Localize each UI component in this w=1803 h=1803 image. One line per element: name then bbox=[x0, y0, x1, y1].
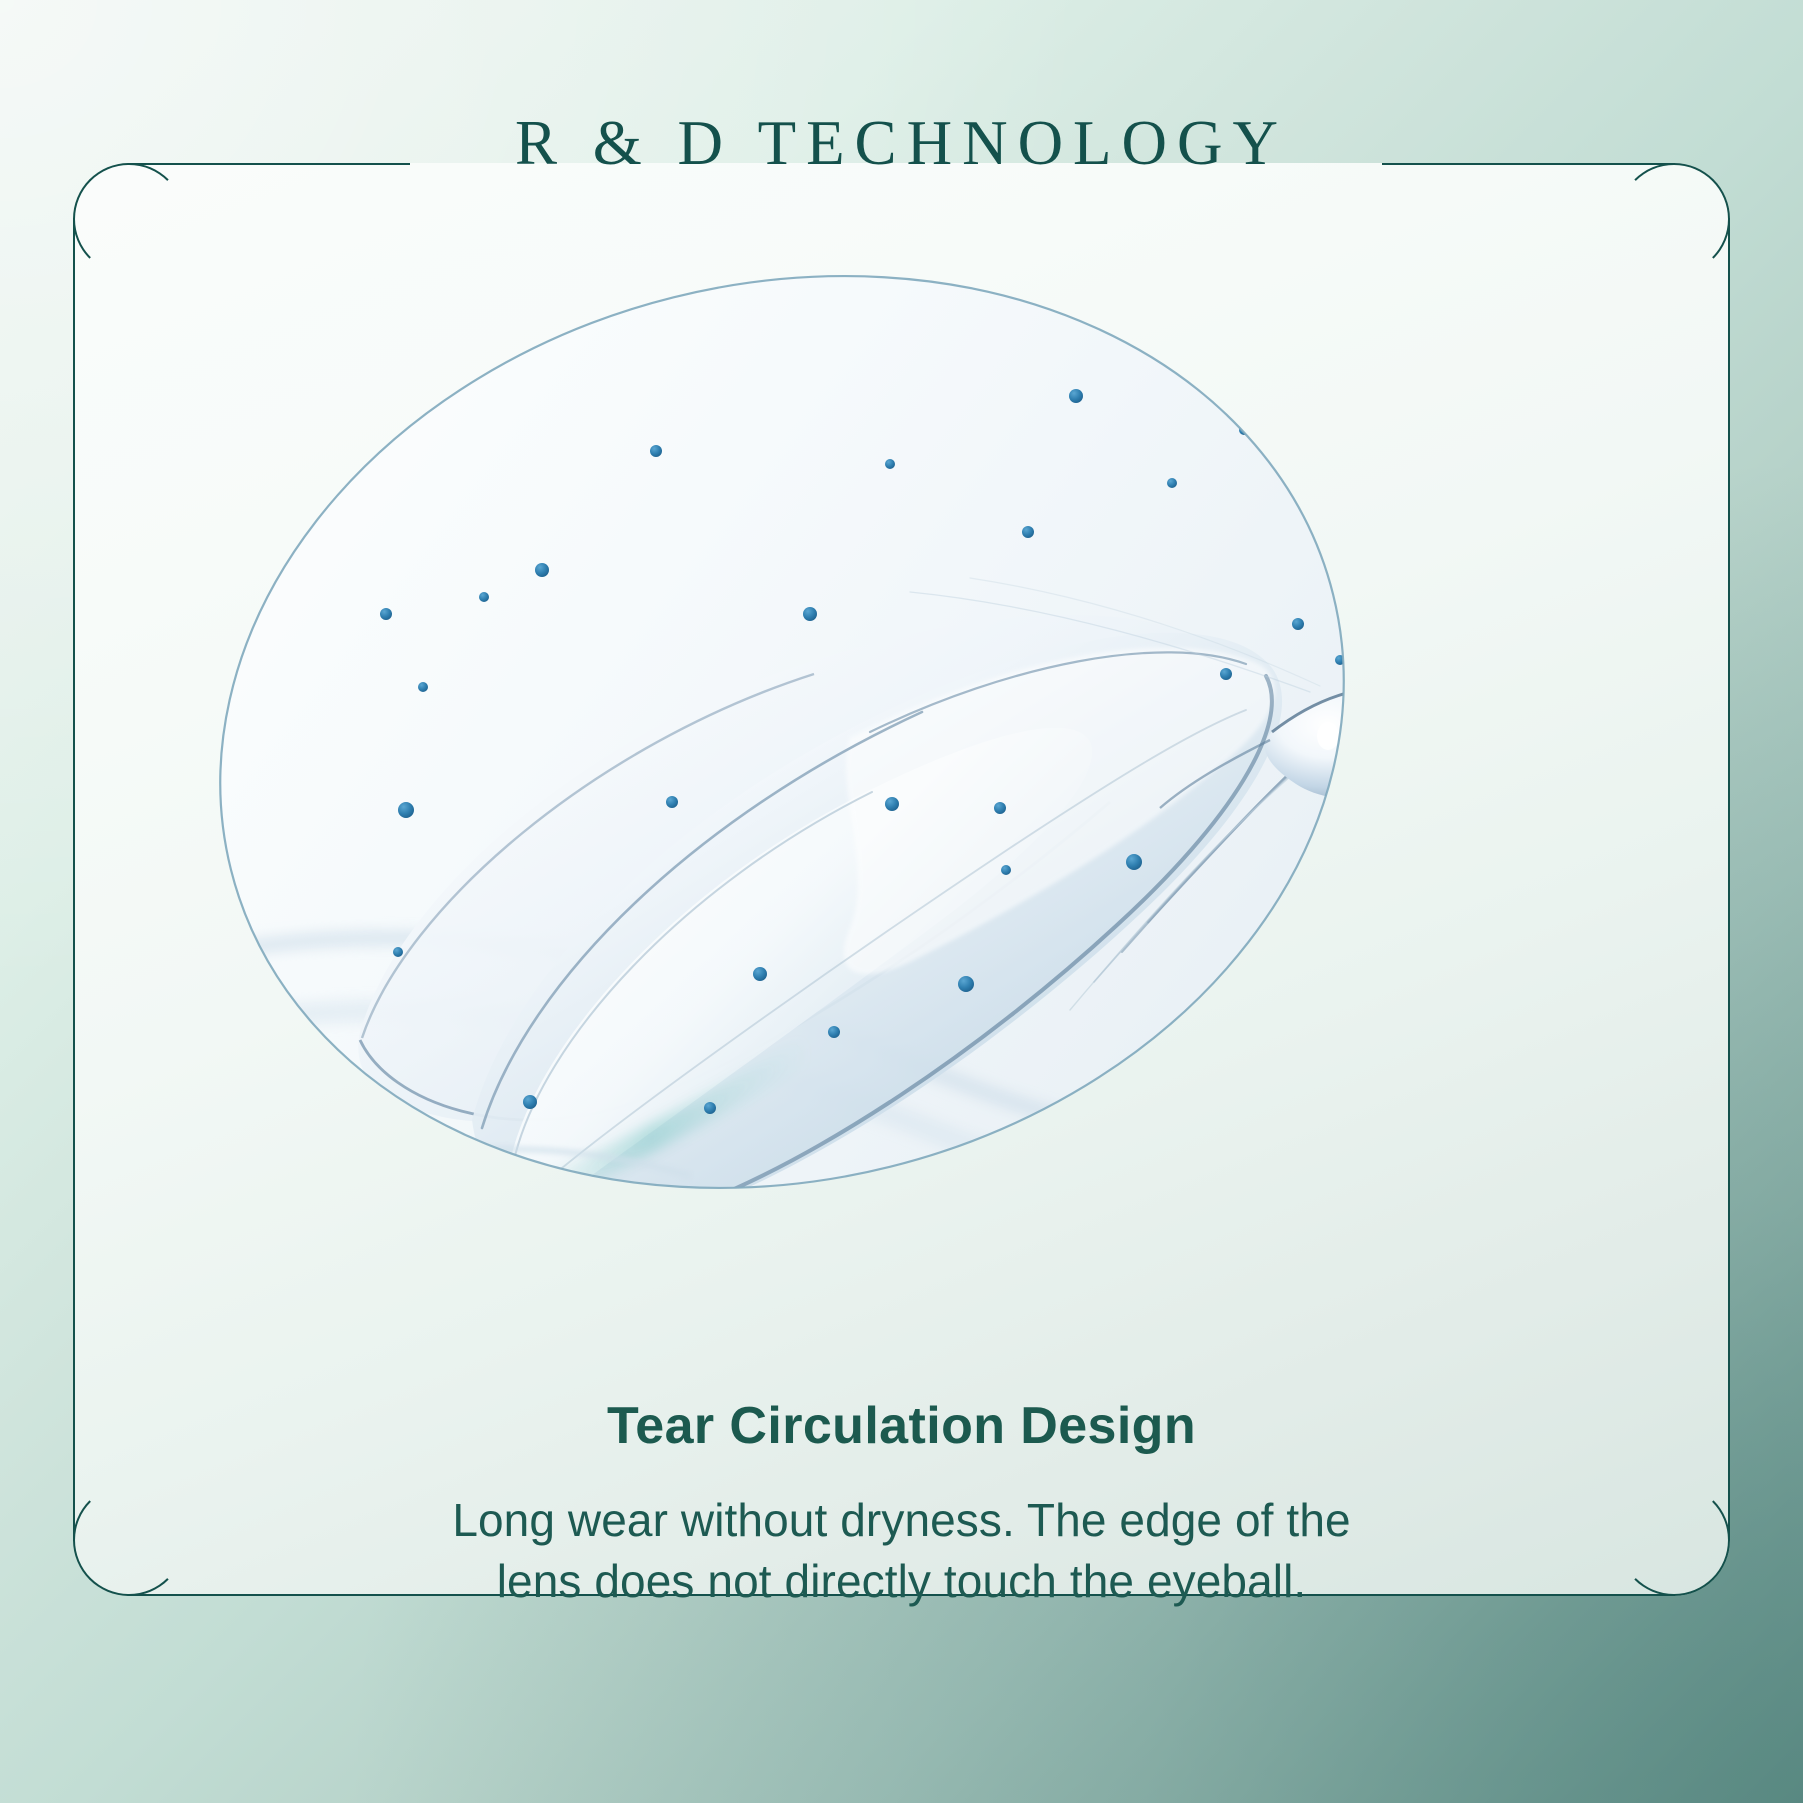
page-title: R & D TECHNOLOGY bbox=[0, 112, 1803, 175]
feature-heading: Tear Circulation Design bbox=[0, 1400, 1803, 1452]
feature-description-line-2: lens does not directly touch the eyeball… bbox=[0, 1551, 1803, 1612]
feature-description-line-1: Long wear without dryness. The edge of t… bbox=[0, 1490, 1803, 1551]
card-corner-top-left bbox=[73, 163, 185, 275]
card-border-left bbox=[73, 218, 75, 1541]
feature-description: Long wear without dryness. The edge of t… bbox=[0, 1490, 1803, 1612]
card-corner-top-right bbox=[1618, 163, 1730, 275]
lens-artwork bbox=[210, 262, 1355, 1202]
card-border-right bbox=[1728, 218, 1730, 1541]
